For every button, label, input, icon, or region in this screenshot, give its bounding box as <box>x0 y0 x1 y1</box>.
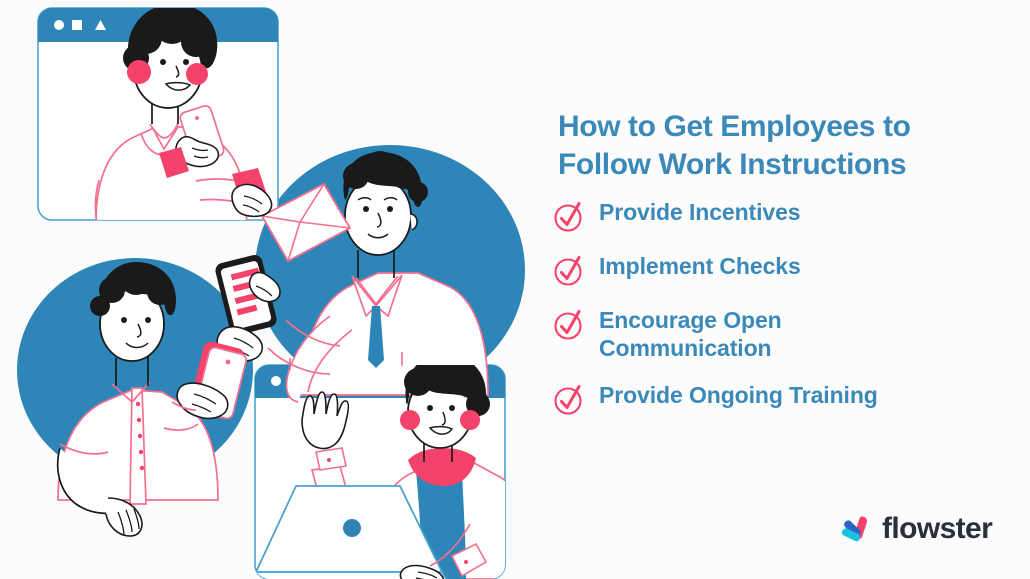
list-item: Provide Incentives <box>552 198 1012 233</box>
window-control-circle <box>271 376 281 386</box>
list-item: Provide Ongoing Training <box>552 381 1012 416</box>
earring-right <box>186 63 208 85</box>
poster-canvas: How to Get Employees to Follow Work Inst… <box>0 0 1030 579</box>
list-item: Encourage Open Communication <box>552 306 1012 362</box>
page-title-line-2: Follow Work Instructions <box>558 148 906 181</box>
list-item: Implement Checks <box>552 252 1012 287</box>
earring-left <box>127 60 151 84</box>
page-title-line-1: How to Get Employees to <box>558 110 911 143</box>
list-item-label: Provide Ongoing Training <box>599 381 878 409</box>
page-title: How to Get Employees to Follow Work Inst… <box>558 108 998 184</box>
window-control-circle <box>54 20 64 30</box>
check-circle-icon <box>552 382 586 416</box>
list-item-label: Provide Incentives <box>599 198 800 226</box>
illustration-group <box>0 0 540 579</box>
earring-left <box>400 410 420 430</box>
flowster-logo: flowster <box>837 512 992 546</box>
window-control-square <box>72 20 82 30</box>
checklist: Provide Incentives Implement Checks <box>552 198 1012 435</box>
check-circle-icon <box>552 307 586 341</box>
check-circle-icon <box>552 199 586 233</box>
flowster-wordmark: flowster <box>882 512 992 546</box>
list-item-label: Implement Checks <box>599 252 801 280</box>
content-column: How to Get Employees to Follow Work Inst… <box>552 0 1030 579</box>
check-circle-icon <box>552 253 586 287</box>
flowster-logo-mark <box>837 512 871 546</box>
earring-right <box>460 410 480 430</box>
list-item-label: Encourage Open Communication <box>599 306 899 362</box>
